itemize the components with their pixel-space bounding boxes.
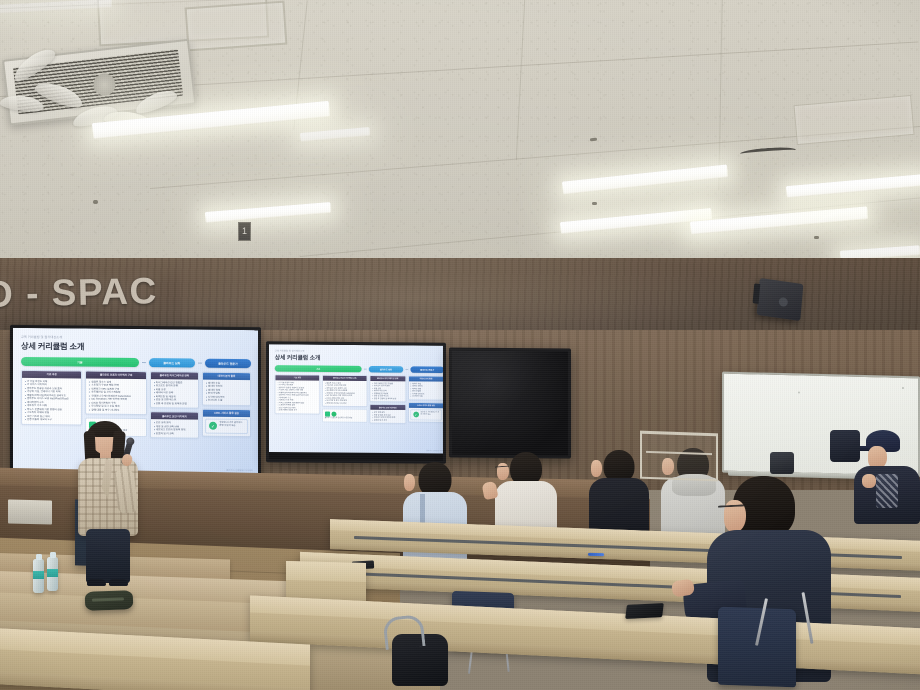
slide-column-c: 클라우드 마이그레이션 전략 마이그레이션 접근 방법론 워크로드 평가와 분류… bbox=[150, 371, 199, 439]
card-item: 전환 후 안정화 및 최적화 운영 bbox=[153, 402, 195, 406]
student-6-shoulder bbox=[830, 430, 860, 462]
equipment-stand bbox=[640, 431, 718, 482]
slide-card-grid: 기초 과정 IT 기술 트렌드 이해 IT 서비스 아키텍처 클라우드 컴퓨팅 … bbox=[275, 374, 444, 424]
flow-connector bbox=[142, 362, 146, 363]
card-body: 보안 설계 원칙 계정 및 권한 관리 IAM 네트워크 보안과 방화벽 정책 … bbox=[151, 419, 198, 437]
lecture-hall-photo: 1 O - SPAC 교육 커리큘럼 및 참가대상소개 상세 커리큘럼 소개 기… bbox=[0, 0, 920, 690]
bottle-label bbox=[47, 569, 58, 577]
student-6 bbox=[852, 430, 920, 520]
slide-card: AI/ML 서비스 활용 실습 ✓ 생성형 AI 기반 클라우드 운영 자동화 … bbox=[408, 402, 444, 422]
slide-title: 상세 커리큘럼 소개 bbox=[275, 353, 444, 363]
card-item: 전환 후 안정화 및 최적화 운영 bbox=[372, 397, 403, 400]
chair[interactable] bbox=[718, 607, 796, 688]
card-body: 컴퓨트 리소스 설계 스토리지 구성과 백업 전략 네트워크 VPC 설계와 구… bbox=[86, 378, 145, 414]
card-item: 장애 대응 및 복구 시나리오 bbox=[325, 402, 365, 405]
slide-card: 클라우드 인프라 아키텍처 구축 컴퓨트 리소스 설계 스토리지 구성과 백업 … bbox=[85, 370, 146, 415]
student-hand bbox=[862, 474, 876, 488]
flow-connector bbox=[364, 369, 367, 370]
card-body: IT 기술 트렌드 이해 IT 서비스 아키텍처 클라우드 컴퓨팅 개념과 도입… bbox=[275, 380, 319, 413]
blue-pen[interactable] bbox=[588, 553, 604, 556]
card-body: 데이터 수집 데이터 전처리 데이터 적재 분석 모델링 시각화 대시보드 인사… bbox=[409, 381, 444, 399]
logo-circle-icon bbox=[331, 411, 336, 416]
student-face bbox=[591, 460, 602, 477]
bottle-label bbox=[33, 571, 44, 579]
ceiling-fitting bbox=[814, 236, 819, 239]
slide-card: 클라우드 인프라 아키텍처 구축 컴퓨트 리소스 설계 스토리지 구성과 백업 … bbox=[322, 375, 367, 407]
slide-flow-row: 기본 클라우드 심화 클라우드 전문가 bbox=[21, 357, 251, 368]
slide-card: AI/ML 서비스 활용 실습 ✓ 생성형 AI 기반 클라우드 운영 자동화 … bbox=[202, 408, 251, 436]
ceiling-fitting bbox=[93, 200, 98, 204]
card-body: ✓ 생성형 AI 기반 클라우드 운영 자동화 실습 bbox=[409, 408, 444, 422]
card-body: 마이그레이션 접근 방법론 워크로드 평가와 분류 비용 산정 데이터 이전 전… bbox=[151, 379, 198, 408]
screen-off-surface bbox=[452, 351, 568, 456]
equipment-bag[interactable] bbox=[85, 590, 134, 611]
slide-badge-card: ✓ 생성형 AI 기반 클라우드 운영 자동화 실습 bbox=[410, 409, 441, 420]
room-sign-label: 1 bbox=[242, 227, 247, 236]
check-icon: ✓ bbox=[413, 412, 419, 418]
flow-pill-advanced: 클라우드 심화 bbox=[369, 366, 403, 373]
slide-content-center: 교육 커리큘럼 및 참가대상소개 상세 커리큘럼 소개 기본 클라우드 심화 클… bbox=[269, 344, 446, 453]
slide-column-d: 데이터 분석 활용 데이터 수집 데이터 전처리 데이터 적재 분석 모델링 시… bbox=[202, 371, 251, 436]
ceiling: 1 bbox=[0, 0, 920, 272]
slide-column-d: 데이터 분석 활용 데이터 수집 데이터 전처리 데이터 적재 분석 모델링 시… bbox=[408, 375, 444, 422]
chair-frame bbox=[382, 614, 425, 650]
av-equipment-shelf bbox=[8, 500, 52, 525]
room-sign: 1 bbox=[238, 222, 251, 241]
slide-column-a: 기초 과정 IT 기술 트렌드 이해 IT 서비스 아키텍처 클라우드 컴퓨팅 … bbox=[275, 374, 320, 414]
flow-connector bbox=[198, 363, 202, 364]
check-icon: ✓ bbox=[209, 422, 217, 430]
slide-column-c: 클라우드 마이그레이션 전략 마이그레이션 접근 방법론 워크로드 평가와 분류… bbox=[370, 375, 406, 424]
ceiling-access-panel bbox=[185, 1, 288, 52]
card-item: 운영 자동화 개요와 도구 bbox=[277, 409, 317, 412]
presenter bbox=[78, 421, 140, 587]
logo-square-icon bbox=[325, 411, 330, 416]
presenter-trousers bbox=[86, 529, 130, 583]
card-body: ✓ 생성형 AI 기반 클라우드 운영 자동화 실습 bbox=[203, 416, 250, 435]
center-projection-screen[interactable]: 교육 커리큘럼 및 참가대상소개 상세 커리큘럼 소개 기본 클라우드 심화 클… bbox=[266, 341, 446, 464]
flow-pill-basic: 기본 bbox=[21, 357, 139, 367]
badge-text: 생성형 AI 기반 클라우드 운영 자동화 실습 bbox=[421, 412, 440, 417]
speaker-cone bbox=[779, 297, 789, 307]
card-item: 인사이트 도출 bbox=[205, 399, 247, 403]
slide-title: 상세 커리큘럼 소개 bbox=[21, 340, 251, 354]
card-item: 인사이트 도출 bbox=[410, 395, 441, 398]
card-body: 데이터 수집 데이터 전처리 데이터 적재 분석 모델링 시각화 대시보드 인사… bbox=[203, 379, 250, 404]
slide-column-a: 기초 과정 IT 기술 트렌드 이해 IT 서비스 아키텍처 클라우드 컴퓨팅 … bbox=[21, 369, 82, 425]
slide-card: 클라우드 보안 아키텍처 보안 설계 원칙 계정 및 권한 관리 IAM 네트워… bbox=[370, 404, 406, 424]
student-hand bbox=[482, 481, 499, 500]
slide-card: 클라우드 마이그레이션 전략 마이그레이션 접근 방법론 워크로드 평가와 분류… bbox=[370, 375, 406, 402]
flow-pill-expert: 클라우드 전문가 bbox=[410, 366, 444, 373]
slide-column-b: 클라우드 인프라 아키텍처 구축 컴퓨트 리소스 설계 스토리지 구성과 백업 … bbox=[322, 375, 367, 423]
slide-footer: 클라우드 인재양성 아카데미 bbox=[426, 449, 445, 452]
flow-pill-basic: 기본 bbox=[275, 365, 362, 372]
ceiling-fitting bbox=[592, 202, 597, 205]
stand-equipment bbox=[770, 452, 794, 474]
card-item: 암호화 및 키 관리 bbox=[153, 432, 195, 436]
card-item: 암호화 및 키 관리 bbox=[372, 419, 403, 422]
slide-card: 기초 과정 IT 기술 트렌드 이해 IT 서비스 아키텍처 클라우드 컴퓨팅 … bbox=[275, 374, 320, 414]
slide-badge-card: ✓ 생성형 AI 기반 클라우드 운영 자동화 실습 bbox=[205, 418, 247, 433]
slide-card: 기초 과정 IT 기술 트렌드 이해 IT 서비스 아키텍처 클라우드 컴퓨팅 … bbox=[21, 369, 82, 425]
card-item: 장애 대응 및 복구 시나리오 bbox=[89, 408, 143, 412]
flow-connector bbox=[405, 369, 408, 370]
logo-caption: 클라우드 전문인력 양성과정 수료증 발급 bbox=[325, 417, 365, 420]
card-body: 보안 설계 원칙 계정 및 권한 관리 IAM 네트워크 보안과 방화벽 정책 … bbox=[370, 410, 405, 423]
card-body: 컴퓨트 리소스 설계 스토리지 구성과 백업 전략 네트워크 VPC 설계와 구… bbox=[323, 380, 367, 406]
student-face bbox=[404, 474, 415, 491]
card-item: 운영 자동화 개요와 도구 bbox=[25, 418, 79, 422]
whiteboard-mark bbox=[798, 391, 800, 393]
smartphone[interactable] bbox=[625, 603, 664, 619]
wall-brand-logo: O - SPAC bbox=[0, 270, 158, 316]
slide-card: 클라우드 보안 아키텍처 보안 설계 원칙 계정 및 권한 관리 IAM 네트워… bbox=[150, 411, 199, 438]
slide-flow-row: 기본 클라우드 심화 클라우드 전문가 bbox=[275, 365, 444, 373]
desk-surface bbox=[286, 561, 366, 582]
card-body: 마이그레이션 접근 방법론 워크로드 평가와 분류 비용 산정 데이터 이전 전… bbox=[370, 381, 405, 402]
slide-card: 데이터 분석 활용 데이터 수집 데이터 전처리 데이터 적재 분석 모델링 시… bbox=[408, 375, 444, 400]
right-monitor-panel[interactable] bbox=[449, 348, 571, 459]
card-body: IT 기술 트렌드 이해 IT 서비스 아키텍처 클라우드 컴퓨팅 개념과 도입… bbox=[22, 377, 81, 424]
water-bottle[interactable] bbox=[33, 559, 44, 593]
slide-logo-card: 클라우드 전문인력 양성과정 수료증 발급 bbox=[322, 409, 367, 423]
whiteboard-mark bbox=[902, 387, 904, 389]
slide-card: 클라우드 마이그레이션 전략 마이그레이션 접근 방법론 워크로드 평가와 분류… bbox=[150, 371, 199, 409]
presenter-shoe bbox=[109, 579, 128, 586]
plaid-shirt bbox=[876, 474, 898, 508]
presenter-shoe bbox=[87, 579, 106, 586]
slide-card: 데이터 분석 활용 데이터 수집 데이터 전처리 데이터 적재 분석 모델링 시… bbox=[202, 371, 251, 405]
logo-marks bbox=[325, 411, 365, 416]
flow-pill-expert: 클라우드 전문가 bbox=[205, 359, 251, 368]
water-bottle[interactable] bbox=[47, 557, 58, 591]
badge-text: 생성형 AI 기반 클라우드 운영 자동화 실습 bbox=[219, 422, 244, 429]
wall-speaker bbox=[757, 278, 804, 321]
flow-pill-advanced: 클라우드 심화 bbox=[149, 358, 195, 367]
